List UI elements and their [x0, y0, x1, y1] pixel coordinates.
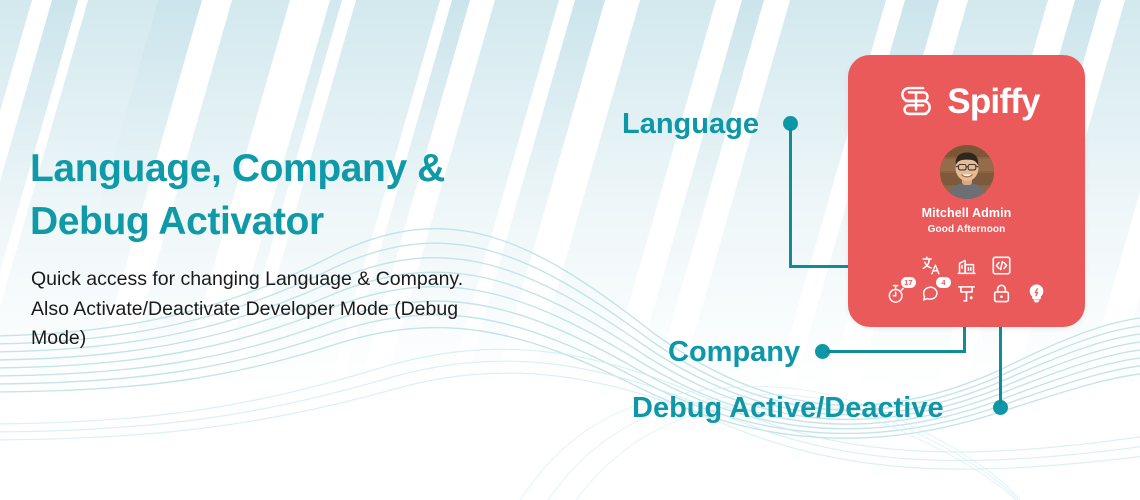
- connector-language-vertical: [789, 128, 792, 267]
- activity-icon[interactable]: [956, 283, 977, 304]
- spiffy-paperclip-logo-icon: [893, 78, 939, 124]
- code-debug-icon[interactable]: [991, 255, 1012, 276]
- connector-debug-dot: [993, 400, 1008, 415]
- timer-icon[interactable]: 17: [886, 283, 907, 304]
- callout-label-debug: Debug Active/Deactive: [632, 391, 944, 425]
- building-icon[interactable]: [956, 255, 977, 276]
- spiffy-user-card: Spiffy: [848, 55, 1085, 327]
- greeting-text: Good Afternoon: [848, 224, 1085, 235]
- user-name: Mitchell Admin: [848, 206, 1085, 220]
- callout-label-language: Language: [622, 107, 759, 141]
- connector-company-dot: [815, 344, 830, 359]
- timer-badge: 17: [901, 277, 916, 288]
- translate-icon[interactable]: [921, 255, 942, 276]
- connector-company-horizontal: [827, 350, 966, 353]
- lock-icon[interactable]: [991, 283, 1012, 304]
- page-description: Quick access for changing Language & Com…: [31, 265, 501, 354]
- callout-label-company: Company: [668, 335, 800, 369]
- status-icons: 17 4: [848, 283, 1085, 304]
- chat-badge: 4: [936, 277, 951, 288]
- quick-action-icons: [848, 255, 1085, 276]
- connector-language-dot: [783, 116, 798, 131]
- chat-icon[interactable]: 4: [921, 283, 942, 304]
- brand-logo: Spiffy: [848, 75, 1085, 127]
- brand-name: Spiffy: [947, 84, 1039, 119]
- avatar: [940, 145, 994, 199]
- page-title: Language, Company & Debug Activator: [30, 142, 550, 248]
- banner-canvas: Language, Company & Debug Activator Quic…: [0, 0, 1140, 500]
- bulb-icon[interactable]: [1026, 283, 1047, 304]
